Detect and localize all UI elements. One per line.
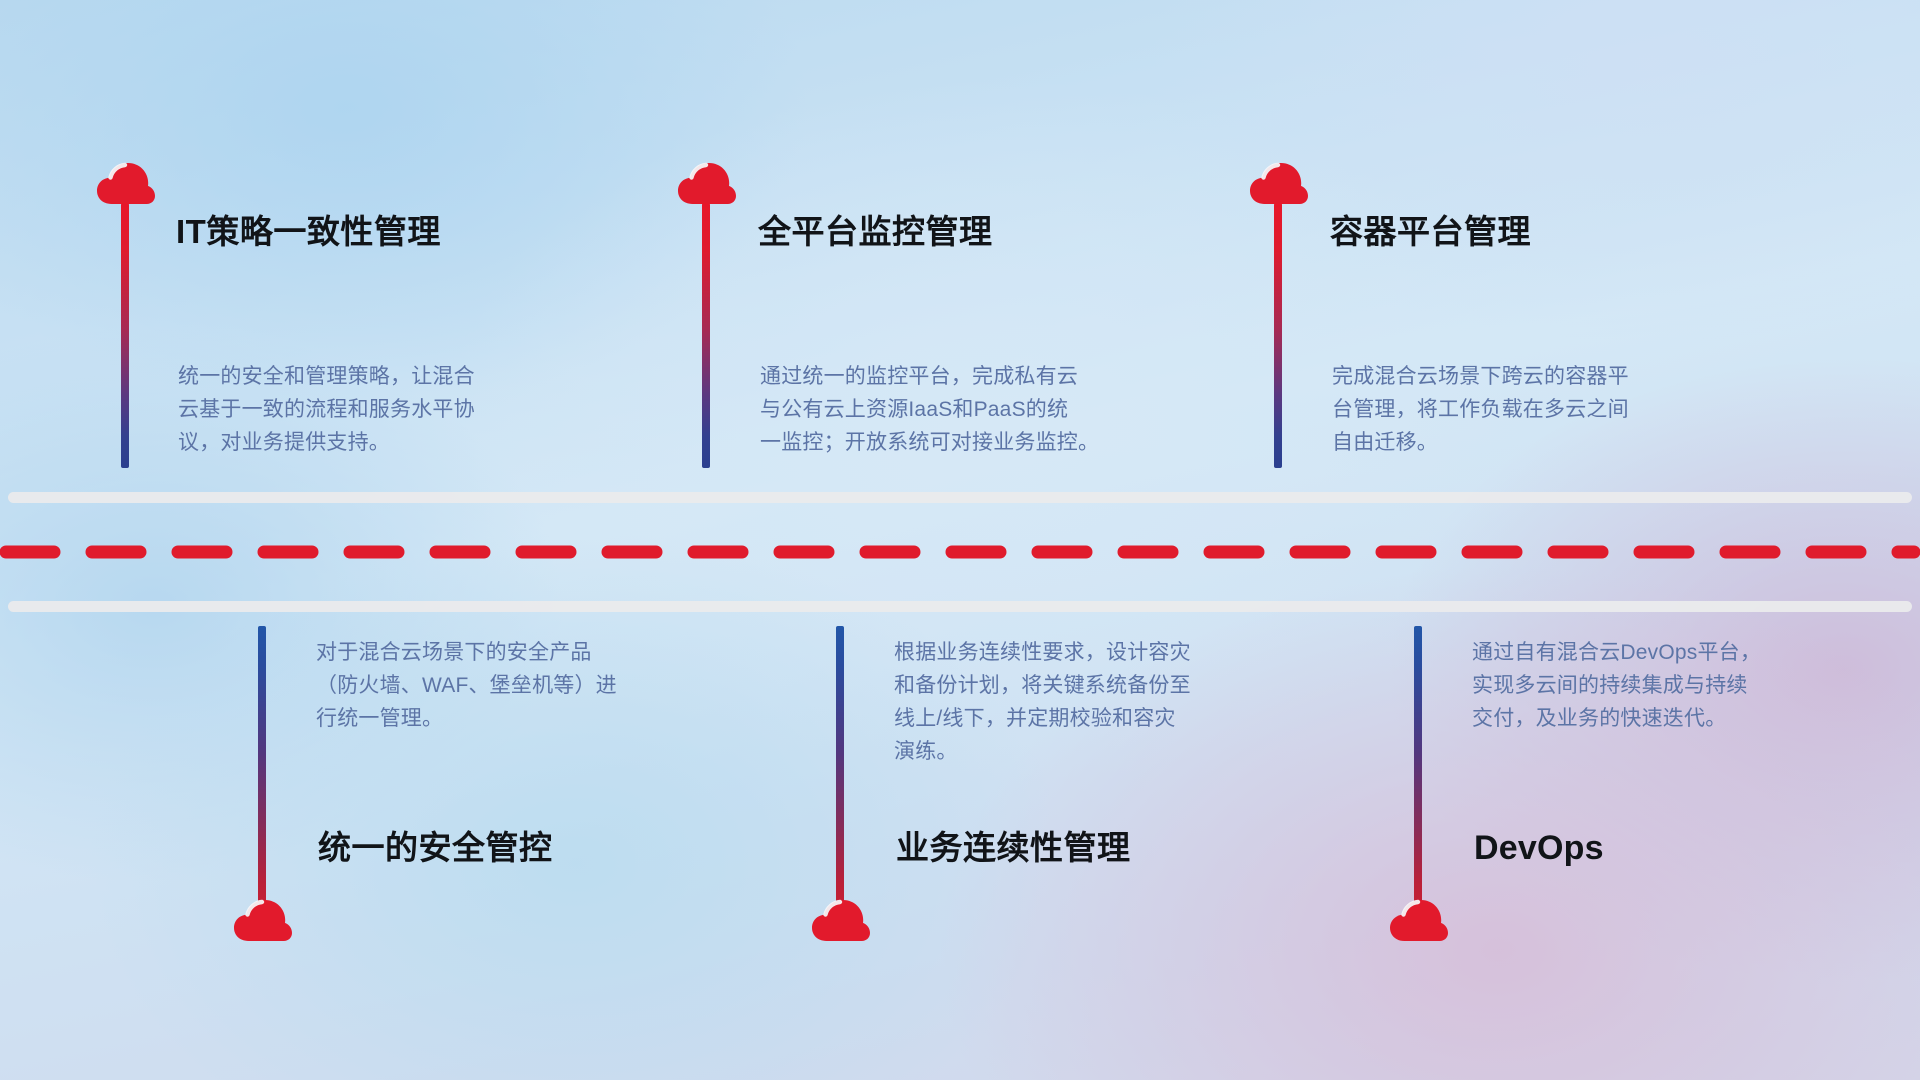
divider-dashed-line [0, 545, 1920, 559]
timeline-stem [702, 203, 710, 468]
timeline-stem [1274, 203, 1282, 468]
timeline-stem [258, 626, 266, 912]
infographic-canvas: IT策略一致性管理 统一的安全和管理策略，让混合 云基于一致的流程和服务水平协 … [0, 0, 1920, 1080]
column-title: 统一的安全管控 [318, 830, 553, 866]
timeline-stem [121, 203, 129, 468]
divider-rule-bottom [8, 601, 1912, 612]
column-title: 容器平台管理 [1330, 214, 1531, 250]
timeline-stem [1414, 626, 1422, 912]
cloud-icon [232, 897, 294, 943]
column-body: 通过自有混合云DevOps平台， 实现多云间的持续集成与持续 交付，及业务的快速… [1472, 636, 1902, 735]
timeline-stem [836, 626, 844, 912]
divider-rule-top [8, 492, 1912, 503]
column-title: IT策略一致性管理 [176, 214, 441, 250]
column-body: 统一的安全和管理策略，让混合 云基于一致的流程和服务水平协 议，对业务提供支持。 [178, 360, 608, 459]
cloud-icon [1248, 160, 1310, 206]
cloud-icon [810, 897, 872, 943]
column-body: 对于混合云场景下的安全产品 （防火墙、WAF、堡垒机等）进 行统一管理。 [316, 636, 746, 735]
cloud-icon [676, 160, 738, 206]
cloud-icon [95, 160, 157, 206]
column-title: 业务连续性管理 [896, 830, 1131, 866]
column-title: 全平台监控管理 [758, 214, 993, 250]
column-title: DevOps [1474, 830, 1604, 867]
column-body: 完成混合云场景下跨云的容器平 台管理，将工作负载在多云之间 自由迁移。 [1332, 360, 1772, 459]
column-body: 通过统一的监控平台，完成私有云 与公有云上资源IaaS和PaaS的统 一监控；开… [760, 360, 1200, 459]
column-body: 根据业务连续性要求，设计容灾 和备份计划，将关键系统备份至 线上/线下，并定期校… [894, 636, 1324, 768]
cloud-icon [1388, 897, 1450, 943]
